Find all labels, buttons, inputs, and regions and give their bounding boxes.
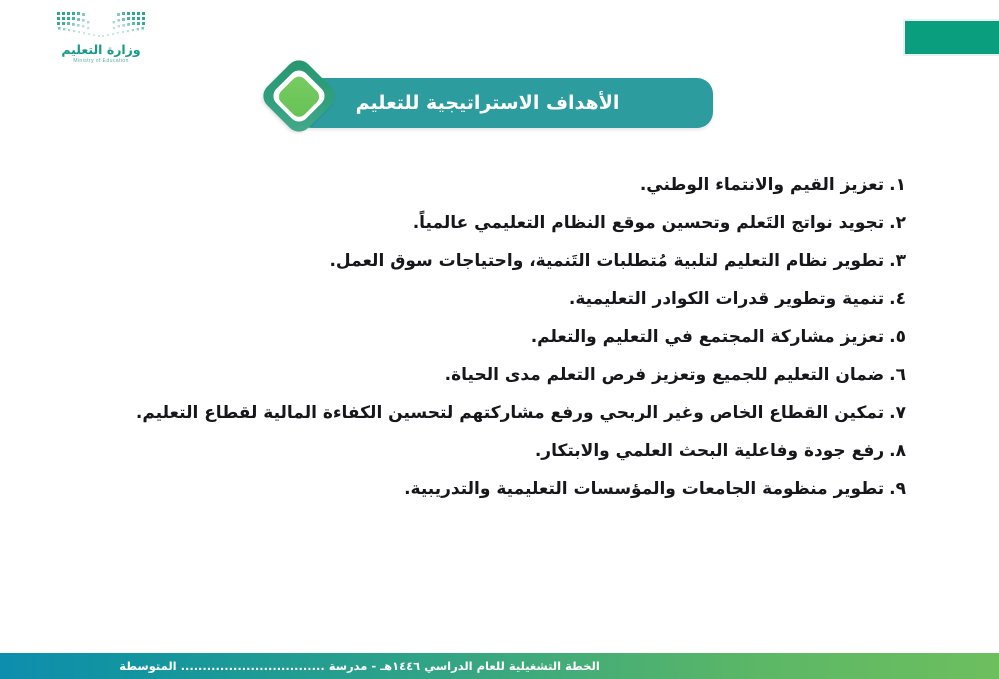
footer-label: الخطة التشغيلية للعام الدراسي ١٤٤٦هـ - م… [119,659,600,673]
list-item: ٧. تمكين القطاع الخاص وغير الربحي ورفع م… [60,394,906,432]
ministry-logo-english-name: Ministry of Education [40,58,162,64]
list-item: ٦. ضمان التعليم للجميع وتعزيز فرص التعلم… [60,356,906,394]
list-item-label: تمكين القطاع الخاص وغير الربحي ورفع مشار… [136,403,884,423]
strategic-objectives-list: ١. تعزيز القيم والانتماء الوطني. ٢. تجوي… [60,166,906,508]
list-item: ١. تعزيز القيم والانتماء الوطني. [60,166,906,204]
list-item-label: ضمان التعليم للجميع وتعزيز فرص التعلم مد… [445,365,885,385]
list-item-label: رفع جودة وفاعلية البحث العلمي والابتكار. [535,441,884,461]
ministry-logo-arabic-name: وزارة التعليم [40,43,162,57]
list-item-label: تعزيز القيم والانتماء الوطني. [640,175,884,195]
list-item-label: تجويد نواتج التَعلم وتحسين موقع النظام ا… [413,213,884,233]
decorative-green-block [903,19,999,56]
list-item-number: ٢. [889,213,906,233]
list-item-label: تعزيز مشاركة المجتمع في التعليم والتعلم. [531,327,884,347]
list-item-number: ٨. [889,441,906,461]
list-item: ٣. تطوير نظام التعليم لتلبية مُتطلبات ال… [60,242,906,280]
list-item-number: ٥. [889,327,906,347]
slide-title-banner: الأهداف الاستراتيجية للتعليم [296,78,713,128]
list-item-number: ٦. [889,365,906,385]
list-item-number: ٧. [889,403,906,423]
list-item-label: تطوير نظام التعليم لتلبية مُتطلبات التَن… [329,251,884,271]
list-item: ٨. رفع جودة وفاعلية البحث العلمي والابتك… [60,432,906,470]
dotted-wing-icon [53,10,149,40]
slide-canvas: وزارة التعليم Ministry of Education الأه… [0,0,999,679]
ministry-of-education-logo: وزارة التعليم Ministry of Education [40,8,162,64]
list-item-number: ١. [889,175,906,195]
slide-footer: الخطة التشغيلية للعام الدراسي ١٤٤٦هـ - م… [0,653,999,679]
list-item: ٥. تعزيز مشاركة المجتمع في التعليم والتع… [60,318,906,356]
list-item: ٤. تنمية وتطوير قدرات الكوادر التعليمية. [60,280,906,318]
list-item: ٢. تجويد نواتج التَعلم وتحسين موقع النظا… [60,204,906,242]
list-item-number: ٤. [889,289,906,309]
diamond-badge-core [276,73,323,120]
list-item-label: تنمية وتطوير قدرات الكوادر التعليمية. [569,289,884,309]
list-item-number: ٣. [889,251,906,271]
page-title: الأهداف الاستراتيجية للتعليم [296,78,713,128]
list-item-number: ٩. [889,479,906,499]
list-item-label: تطوير منظومة الجامعات والمؤسسات التعليمي… [404,479,884,499]
list-item: ٩. تطوير منظومة الجامعات والمؤسسات التعل… [60,470,906,508]
